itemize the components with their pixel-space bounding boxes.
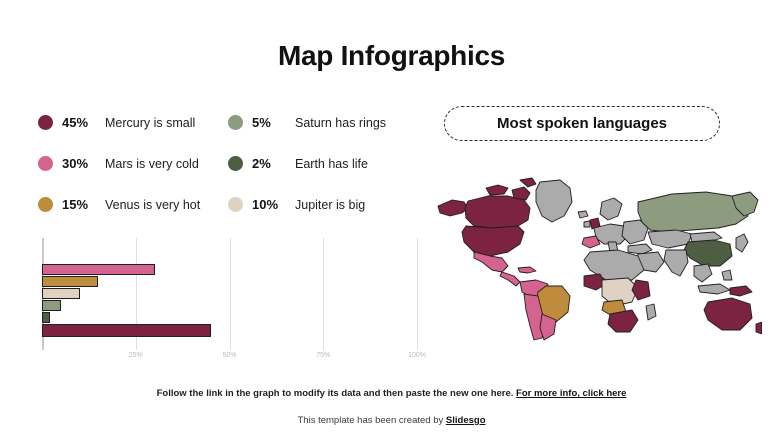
map-region-new-zealand[interactable] bbox=[756, 322, 762, 334]
chart-tick-label: 75% bbox=[316, 352, 330, 359]
map-region-philippines[interactable] bbox=[722, 270, 732, 280]
footer-note: Follow the link in the graph to modify i… bbox=[0, 388, 783, 399]
map-title-text: Most spoken languages bbox=[497, 115, 667, 132]
chart-bar[interactable] bbox=[42, 324, 211, 337]
legend-dot-icon bbox=[38, 156, 53, 171]
map-region-china[interactable] bbox=[684, 240, 732, 266]
chart-bar[interactable] bbox=[42, 300, 61, 311]
map-region-southeast-asia[interactable] bbox=[694, 264, 712, 282]
legend-dot-icon bbox=[228, 156, 243, 171]
map-region-russia[interactable] bbox=[638, 192, 748, 232]
map-region-baffin[interactable] bbox=[512, 187, 530, 200]
chart-bar[interactable] bbox=[42, 276, 98, 287]
legend-percent: 5% bbox=[252, 115, 286, 130]
map-title-box: Most spoken languages bbox=[444, 106, 720, 141]
map-region-alaska[interactable] bbox=[438, 200, 468, 216]
legend-dot-icon bbox=[228, 115, 243, 130]
legend-item-earth: 2% Earth has life bbox=[228, 156, 408, 171]
chart-plot-area bbox=[42, 238, 417, 350]
map-region-central-asia[interactable] bbox=[648, 230, 692, 248]
map-region-iberia[interactable] bbox=[582, 236, 600, 248]
legend-item-saturn: 5% Saturn has rings bbox=[228, 115, 408, 130]
map-region-greenland[interactable] bbox=[536, 180, 572, 222]
map-region-japan[interactable] bbox=[736, 234, 748, 252]
chart-tick-label: 50% bbox=[222, 352, 236, 359]
map-region-new-guinea[interactable] bbox=[730, 286, 752, 296]
footer-more-info-link[interactable]: For more info, click here bbox=[516, 388, 626, 399]
page-title: Map Infographics bbox=[0, 40, 783, 72]
legend-item-mars: 30% Mars is very cold bbox=[38, 156, 228, 171]
map-region-ellesmere[interactable] bbox=[520, 178, 536, 187]
footer-credit: This template has been created by Slides… bbox=[0, 415, 783, 426]
slidesgo-link[interactable]: Slidesgo bbox=[446, 415, 486, 426]
legend-label: Venus is very hot bbox=[105, 198, 200, 212]
map-region-ireland[interactable] bbox=[584, 221, 590, 227]
legend-label: Jupiter is big bbox=[295, 198, 365, 212]
map-region-iceland[interactable] bbox=[578, 211, 588, 218]
map-region-central-america[interactable] bbox=[500, 272, 520, 286]
chart-tick-label: 100% bbox=[408, 352, 426, 359]
legend-item-venus: 15% Venus is very hot bbox=[38, 197, 228, 212]
map-region-australia[interactable] bbox=[704, 298, 752, 330]
legend-item-mercury: 45% Mercury is small bbox=[38, 115, 228, 130]
map-region-turkey[interactable] bbox=[628, 244, 652, 254]
legend-percent: 45% bbox=[62, 115, 96, 130]
map-region-southern-africa[interactable] bbox=[608, 310, 638, 332]
legend: 45% Mercury is small 5% Saturn has rings… bbox=[38, 102, 408, 225]
legend-label: Earth has life bbox=[295, 157, 368, 171]
map-region-canada[interactable] bbox=[465, 196, 530, 228]
legend-percent: 10% bbox=[252, 197, 286, 212]
chart-bars bbox=[42, 264, 417, 338]
legend-percent: 2% bbox=[252, 156, 286, 171]
legend-label: Saturn has rings bbox=[295, 116, 386, 130]
legend-item-jupiter: 10% Jupiter is big bbox=[228, 197, 408, 212]
bar-chart[interactable]: 25%50%75%100% bbox=[30, 238, 430, 368]
world-map[interactable] bbox=[432, 172, 762, 342]
map-region-india[interactable] bbox=[664, 250, 688, 276]
chart-gridline bbox=[417, 238, 418, 350]
map-region-usa[interactable] bbox=[462, 226, 524, 256]
legend-percent: 15% bbox=[62, 197, 96, 212]
footer-note-text: Follow the link in the graph to modify i… bbox=[157, 388, 516, 399]
map-region-indonesia[interactable] bbox=[698, 284, 730, 294]
legend-dot-icon bbox=[228, 197, 243, 212]
map-region-scandinavia[interactable] bbox=[600, 198, 622, 220]
map-region-caribbean[interactable] bbox=[518, 267, 536, 273]
footer-credit-text: This template has been created by bbox=[298, 415, 446, 426]
map-region-madagascar[interactable] bbox=[646, 304, 656, 320]
legend-label: Mars is very cold bbox=[105, 157, 199, 171]
map-region-arctic-islands[interactable] bbox=[486, 185, 508, 195]
map-panel: Most spoken languages bbox=[432, 100, 762, 355]
legend-label: Mercury is small bbox=[105, 116, 195, 130]
chart-bar[interactable] bbox=[42, 288, 80, 299]
legend-dot-icon bbox=[38, 197, 53, 212]
chart-bar[interactable] bbox=[42, 264, 155, 275]
chart-x-tick-labels: 25%50%75%100% bbox=[42, 352, 417, 368]
legend-dot-icon bbox=[38, 115, 53, 130]
legend-percent: 30% bbox=[62, 156, 96, 171]
map-region-east-africa[interactable] bbox=[632, 280, 650, 300]
chart-bar[interactable] bbox=[42, 312, 50, 323]
chart-tick-label: 25% bbox=[129, 352, 143, 359]
